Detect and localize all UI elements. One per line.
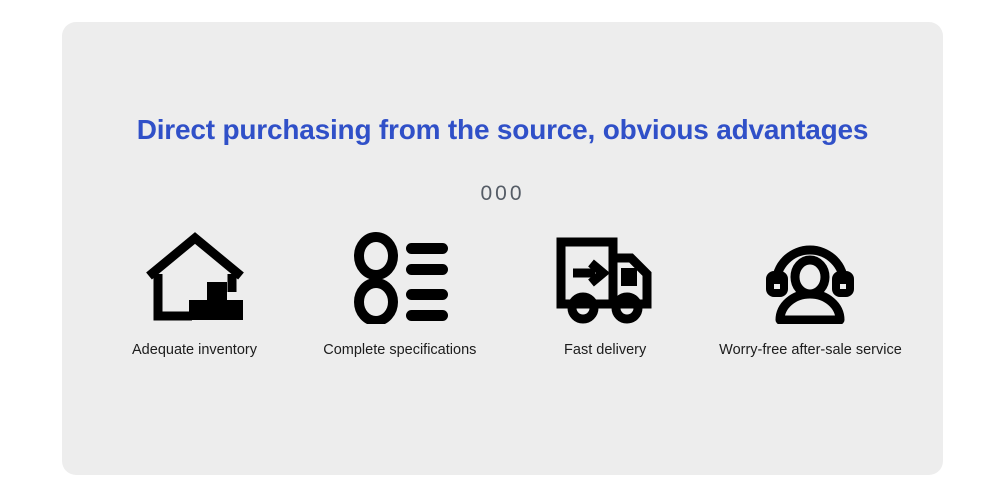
promo-banner-stage: Direct purchasing from the source, obvio… — [0, 0, 1000, 498]
specification-list-icon — [350, 230, 450, 326]
feature-label: Complete specifications — [323, 342, 476, 358]
feature-item-delivery: Fast delivery — [503, 230, 708, 358]
warehouse-icon — [145, 230, 245, 326]
feature-list: Adequate inventory Complete specificatio… — [62, 230, 943, 358]
feature-item-after-sale: Worry-free after-sale service — [708, 230, 913, 358]
divider-ornament: 000 — [62, 182, 943, 206]
delivery-truck-icon — [555, 230, 655, 326]
feature-item-specifications: Complete specifications — [297, 230, 502, 358]
feature-label: Fast delivery — [564, 342, 646, 358]
feature-item-inventory: Adequate inventory — [92, 230, 297, 358]
feature-label: Adequate inventory — [132, 342, 257, 358]
promo-card: Direct purchasing from the source, obvio… — [62, 22, 943, 475]
page-title: Direct purchasing from the source, obvio… — [62, 114, 943, 146]
feature-label: Worry-free after-sale service — [719, 342, 902, 358]
headset-support-icon — [760, 230, 860, 326]
